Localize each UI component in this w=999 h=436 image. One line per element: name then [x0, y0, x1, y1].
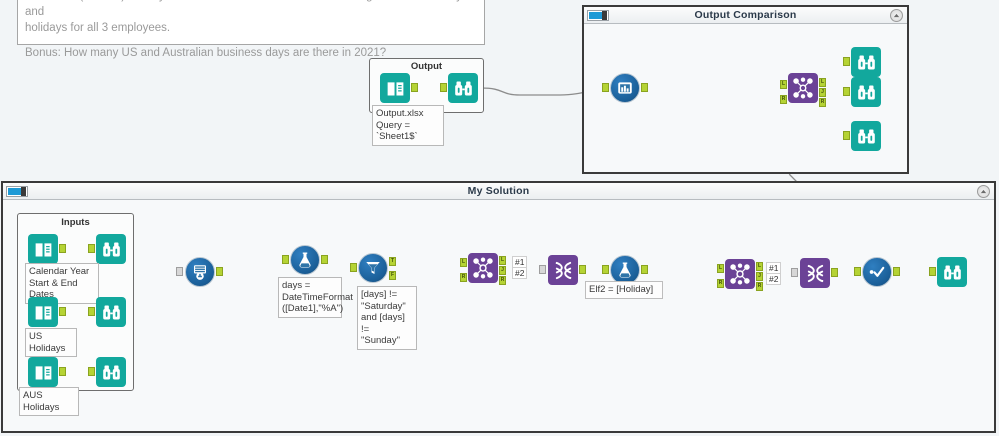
browse-icon: [851, 121, 881, 151]
join-right-input-port[interactable]: R: [460, 273, 467, 282]
filter-tool[interactable]: T F: [358, 253, 388, 283]
input-port[interactable]: [843, 57, 850, 66]
output-browse-tool[interactable]: [448, 73, 478, 103]
input-data-tool-us-holidays[interactable]: [28, 297, 58, 327]
input-port[interactable]: [350, 263, 357, 272]
output-input-data-tool[interactable]: [380, 73, 410, 103]
join-tool-icon: [788, 73, 818, 103]
browse-icon: [96, 234, 126, 264]
container-my-solution-titlebar[interactable]: My Solution: [3, 183, 994, 200]
container-output-title: Output: [370, 61, 483, 72]
input-port[interactable]: [88, 244, 95, 253]
output-port[interactable]: [641, 265, 648, 274]
select-tool-icon: [862, 257, 892, 287]
output-port[interactable]: [641, 83, 648, 92]
join-left-output-port[interactable]: L: [499, 256, 506, 265]
join-tool-icon: [725, 259, 755, 289]
union-tool-2[interactable]: [800, 258, 830, 288]
output-port[interactable]: [216, 267, 223, 276]
join-right-output-port[interactable]: R: [819, 98, 826, 107]
annotation-formula-days[interactable]: days = DateTimeFormat ([Date1],"%A"): [278, 277, 342, 318]
input-data-tool-calendar[interactable]: [28, 234, 58, 264]
input-port[interactable]: [539, 265, 546, 274]
join-right-input-port[interactable]: R: [717, 279, 724, 288]
input-port[interactable]: [176, 267, 183, 276]
join-left-output-port[interactable]: L: [819, 78, 826, 87]
browse-icon: [448, 73, 478, 103]
browse-icon: [937, 257, 967, 287]
filter-false-output-port[interactable]: F: [389, 271, 396, 280]
comparison-browse-tool-right[interactable]: [851, 121, 881, 151]
join-left-output-port[interactable]: L: [756, 262, 763, 271]
join-left-input-port[interactable]: L: [717, 264, 724, 273]
input-port[interactable]: [602, 265, 609, 274]
input-port[interactable]: [854, 267, 861, 276]
filter-tool-icon: [358, 253, 388, 283]
join-right-output-port[interactable]: R: [499, 276, 506, 285]
browse-icon: [96, 357, 126, 387]
input-data-tool-aus-holidays[interactable]: [28, 357, 58, 387]
join-join-output-port[interactable]: J: [756, 272, 763, 281]
input-port[interactable]: [88, 367, 95, 376]
input-port[interactable]: [843, 131, 850, 140]
join-right-input-port[interactable]: R: [780, 95, 787, 104]
task-description-comment[interactable]: Australian (Victoria) holiday schedule. …: [17, 0, 485, 45]
comment-line-1: Australian (Victoria) holiday schedule. …: [25, 0, 477, 20]
comparison-browse-tool-left[interactable]: [851, 47, 881, 77]
join-tool-2[interactable]: L R L J R: [725, 259, 755, 289]
input-port[interactable]: [843, 87, 850, 96]
browse-icon: [851, 77, 881, 107]
annotation-formula-elf2[interactable]: Elf2 = [Holiday]: [585, 281, 663, 299]
output-port[interactable]: [411, 83, 418, 92]
output-port[interactable]: [59, 307, 66, 316]
browse-icon: [96, 297, 126, 327]
browse-icon: [851, 47, 881, 77]
container-inputs-title: Inputs: [18, 217, 133, 228]
container-output-comparison-title: Output Comparison: [695, 9, 797, 21]
union-tool-icon: [548, 255, 578, 285]
input-data-icon: [28, 297, 58, 327]
join-left-input-port[interactable]: L: [460, 258, 467, 267]
union-tool-1[interactable]: [548, 255, 578, 285]
output-port[interactable]: [321, 255, 328, 264]
join-left-input-port[interactable]: L: [780, 80, 787, 89]
input-port[interactable]: [791, 268, 798, 277]
container-disable-toggle-icon[interactable]: [587, 10, 609, 21]
select-tool-final[interactable]: [862, 257, 892, 287]
output-port[interactable]: [831, 268, 838, 277]
input-port[interactable]: [929, 267, 936, 276]
container-output-comparison-titlebar[interactable]: Output Comparison: [584, 7, 907, 24]
join-tool-icon: [468, 253, 498, 283]
browse-tool-calendar[interactable]: [96, 234, 126, 264]
join-right-output-port[interactable]: R: [756, 282, 763, 291]
annotation-output-file[interactable]: Output.xlsx Query = `Sheet1$`: [372, 105, 444, 146]
generate-rows-tool[interactable]: [185, 257, 215, 287]
comment-line-2: holidays for all 3 employees.: [25, 20, 477, 36]
connection-label-union2-input2: #2: [766, 273, 781, 285]
annotation-filter-expression[interactable]: [days] != "Saturday" and [days] != "Sund…: [357, 286, 417, 350]
input-data-icon: [28, 357, 58, 387]
formula-tool-days[interactable]: [290, 245, 320, 275]
input-port[interactable]: [88, 307, 95, 316]
container-my-solution[interactable]: My Solution: [1, 181, 996, 433]
collapse-chevron-up-icon[interactable]: [977, 185, 990, 198]
annotation-us-holidays[interactable]: US Holidays: [25, 328, 77, 357]
join-join-output-port[interactable]: J: [819, 88, 826, 97]
browse-tool-aus-holidays[interactable]: [96, 357, 126, 387]
output-port[interactable]: [579, 265, 586, 274]
browse-tool-final[interactable]: [937, 257, 967, 287]
browse-tool-us-holidays[interactable]: [96, 297, 126, 327]
input-data-icon: [28, 234, 58, 264]
connection-label-union1-input2: #2: [512, 267, 527, 279]
comparison-browse-tool-join[interactable]: [851, 77, 881, 107]
output-port[interactable]: [59, 367, 66, 376]
join-tool-1[interactable]: L R L J R: [468, 253, 498, 283]
select-tool-icon: [610, 73, 640, 103]
input-port[interactable]: [282, 255, 289, 264]
container-my-solution-title: My Solution: [468, 185, 530, 197]
collapse-chevron-up-icon[interactable]: [890, 9, 903, 22]
container-disable-toggle-icon[interactable]: [6, 186, 28, 197]
comparison-join-tool[interactable]: L R L J R: [788, 73, 818, 103]
generate-rows-icon: [185, 257, 215, 287]
annotation-aus-holidays[interactable]: AUS Holidays: [19, 387, 79, 416]
output-port[interactable]: [893, 267, 900, 276]
join-join-output-port[interactable]: J: [499, 266, 506, 275]
input-port[interactable]: [440, 83, 447, 92]
input-port[interactable]: [602, 83, 609, 92]
output-port[interactable]: [59, 244, 66, 253]
formula-tool-icon: [290, 245, 320, 275]
input-data-icon: [380, 73, 410, 103]
filter-true-output-port[interactable]: T: [389, 257, 396, 266]
workflow-canvas[interactable]: Australian (Victoria) holiday schedule. …: [0, 0, 999, 436]
union-tool-icon: [800, 258, 830, 288]
comparison-select-tool[interactable]: [610, 73, 640, 103]
